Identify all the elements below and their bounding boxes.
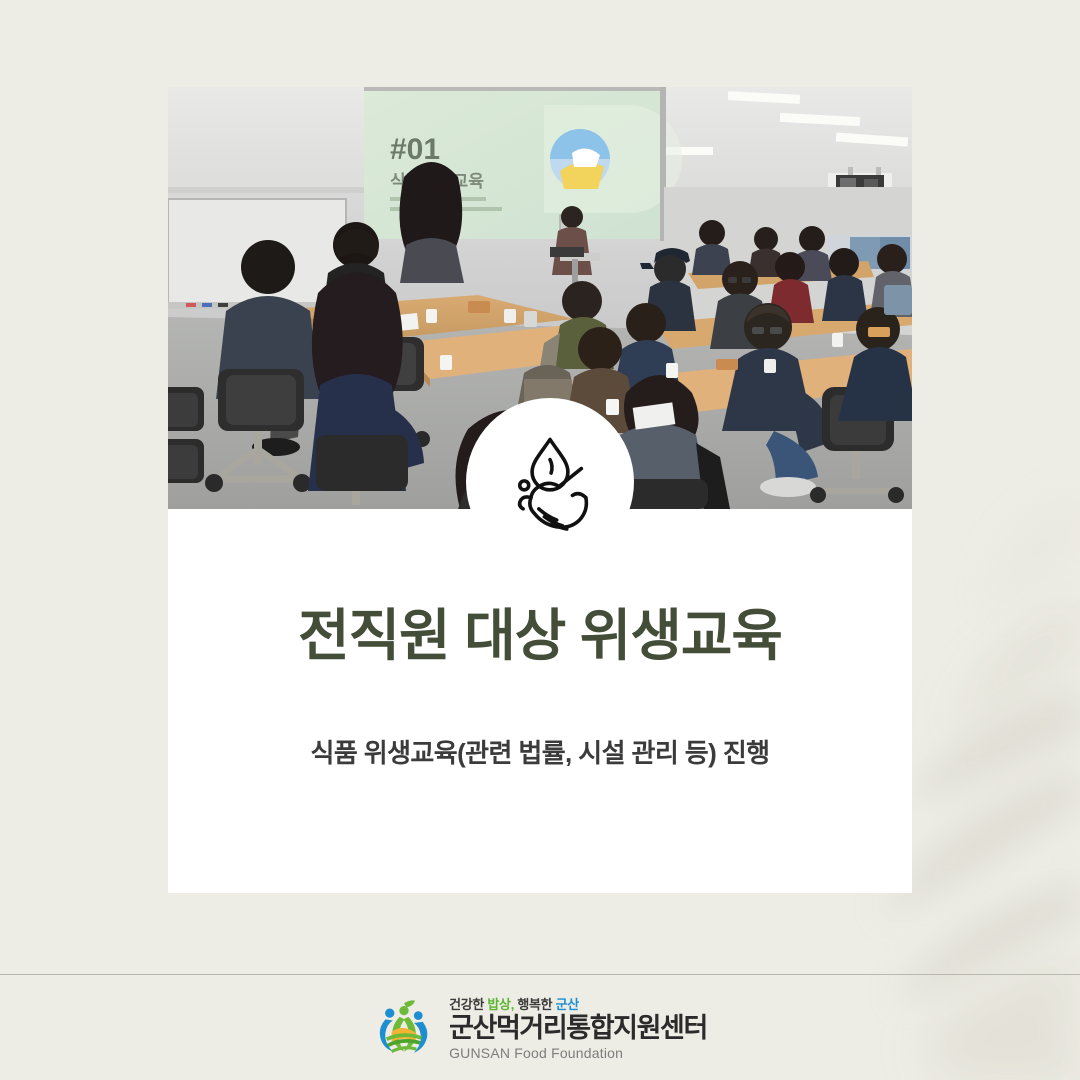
- page-subtitle: 식품 위생교육(관련 법률, 시설 관리 등) 진행: [208, 733, 872, 770]
- footer-tagline-part-3: 행복한: [517, 997, 555, 1012]
- svg-text:#01: #01: [390, 133, 440, 166]
- footer-tagline-part-4: 군산: [556, 997, 579, 1012]
- footer-logo-text: 건강한 밥상, 행복한 군산 군산먹거리통합지원센터 GUNSAN Food F…: [449, 994, 707, 1061]
- footer: 건강한 밥상, 행복한 군산 군산먹거리통합지원센터 GUNSAN Food F…: [0, 975, 1080, 1080]
- footer-tagline: 건강한 밥상, 행복한 군산: [449, 994, 579, 1013]
- footer-tagline-part-2: 밥상,: [487, 997, 517, 1012]
- attendee-midhair: [399, 162, 464, 283]
- footer-tagline-part-1: 건강한: [449, 997, 487, 1012]
- attendee-row-far: [692, 220, 832, 281]
- handwashing-icon: [494, 426, 606, 538]
- page-title: 전직원 대상 위생교육: [208, 601, 872, 671]
- footer-organization-name-en: GUNSAN Food Foundation: [449, 1045, 623, 1061]
- handwashing-badge: [466, 398, 634, 566]
- gunsan-food-foundation-logo-icon: [373, 997, 435, 1059]
- footer-organization-name: 군산먹거리통합지원센터: [449, 1014, 707, 1044]
- poster-text-block: 전직원 대상 위생교육 식품 위생교육(관련 법률, 시설 관리 등) 진행: [168, 601, 912, 770]
